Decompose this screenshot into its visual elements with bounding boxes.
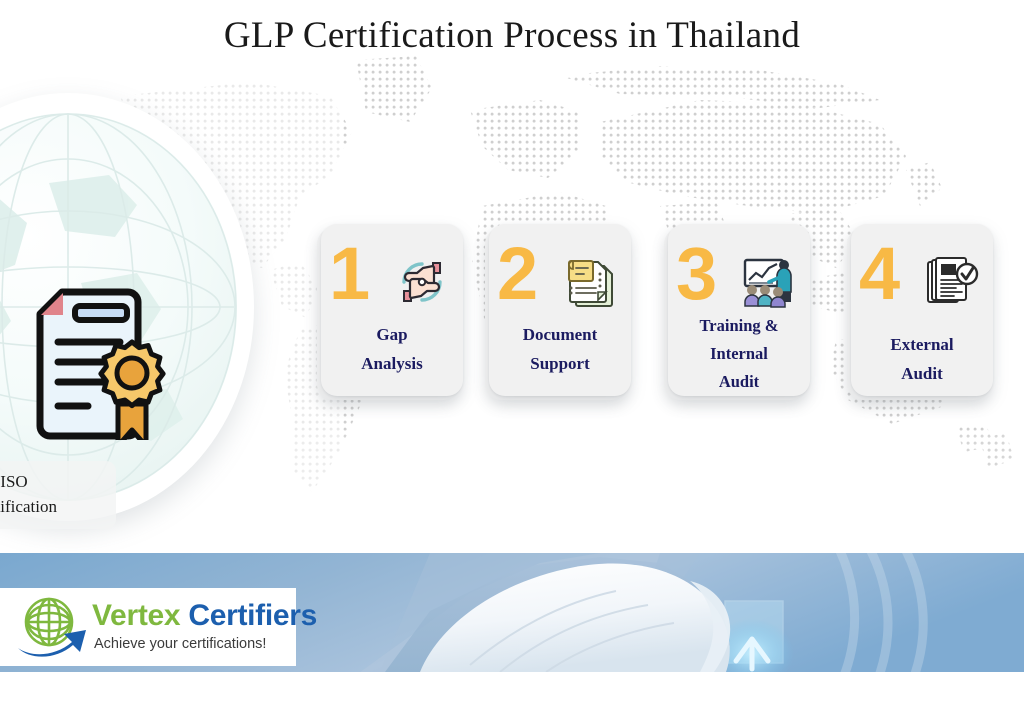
step-1-label-line2: Analysis: [327, 349, 457, 378]
handshake-icon: [392, 252, 452, 312]
step-4-label-line2: Audit: [857, 359, 987, 388]
brand-name: Vertex Certifiers: [92, 599, 317, 633]
page-title: GLP Certification Process in Thailand: [0, 14, 1024, 57]
iso-label-line2: Certification: [0, 494, 116, 519]
step-4-label-line1: External: [857, 330, 987, 359]
step-1-label-line1: Gap: [327, 320, 457, 349]
step-1-label: Gap Analysis: [327, 320, 457, 378]
step-2-label-line2: Support: [495, 349, 625, 378]
step-2-number: 2: [497, 234, 538, 314]
step-4-number: 4: [859, 234, 900, 314]
step-2-label: Document Support: [495, 320, 625, 378]
certificate-document-icon: [32, 286, 168, 440]
step-3-label-line3: Audit: [674, 368, 804, 396]
iso-certification-badge: ISO Certification: [0, 93, 260, 525]
step-card-1[interactable]: 1 Gap Analysis: [321, 224, 463, 396]
step-1-number: 1: [329, 234, 370, 314]
step-card-4[interactable]: 4 External: [851, 224, 993, 396]
brand-tagline: Achieve your certifications!: [94, 636, 266, 652]
brand-name-second: Certifiers: [188, 599, 317, 632]
audit-check-documents-icon: [922, 252, 982, 312]
step-3-number: 3: [676, 234, 717, 314]
globe-arrow-logo-icon: [16, 596, 88, 658]
brand-logo[interactable]: Vertex Certifiers Achieve your certifica…: [0, 588, 296, 666]
step-3-label: Training & Internal Audit: [674, 312, 804, 396]
iso-badge-label: ISO Certification: [0, 461, 116, 529]
iso-label-line1: ISO: [0, 469, 116, 494]
training-presentation-icon: [739, 252, 799, 312]
step-4-label: External Audit: [857, 330, 987, 388]
step-2-label-line1: Document: [495, 320, 625, 349]
step-card-3[interactable]: 3: [668, 224, 810, 396]
step-3-label-line2: Internal: [674, 340, 804, 368]
brand-name-first: Vertex: [92, 599, 180, 632]
step-3-label-line1: Training &: [674, 312, 804, 340]
documents-icon: [560, 252, 620, 312]
step-card-2[interactable]: 2 Document S: [489, 224, 631, 396]
infographic-page: GLP Certification Process in Thailand: [0, 0, 1024, 724]
